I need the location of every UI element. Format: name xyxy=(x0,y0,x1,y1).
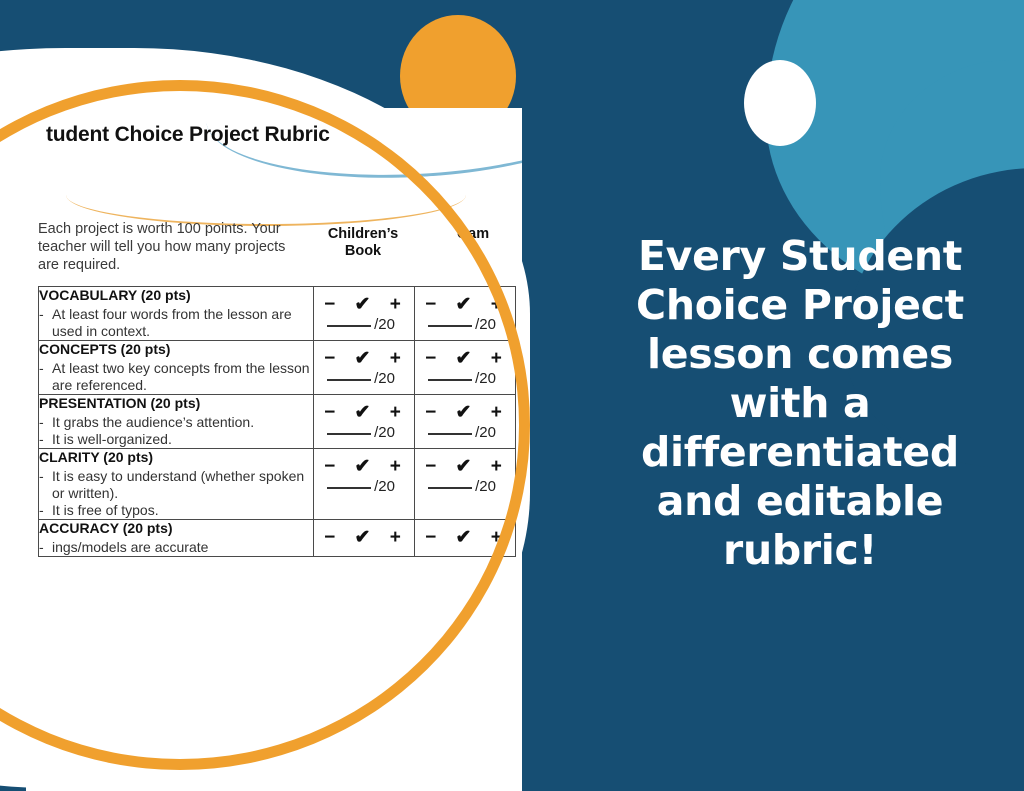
criterion-bullet: -ings/models are accurate xyxy=(39,539,313,556)
table-row: PRESENTATION (20 pts) -It grabs the audi… xyxy=(39,395,516,449)
score-cell-inner: − ✔ + /20 xyxy=(415,287,515,337)
score-cell-inner: − ✔ + /20 xyxy=(314,449,414,499)
criterion-bullet-text: It is free of typos. xyxy=(52,502,159,518)
score-underline[interactable] xyxy=(428,433,472,435)
rubric-document: tudent Choice Project Rubric Each projec… xyxy=(26,108,522,791)
criterion-bullets: -It is easy to understand (whether spoke… xyxy=(39,468,313,519)
bullet-dash-icon: - xyxy=(39,360,44,377)
score-blank[interactable]: /20 xyxy=(314,370,414,391)
mark-symbols[interactable]: − ✔ + xyxy=(314,341,414,370)
criterion-bullets: -ings/models are accurate xyxy=(39,539,313,556)
score-blank[interactable]: /20 xyxy=(314,316,414,337)
criterion-bullet-text: ings/models are accurate xyxy=(52,539,208,555)
score-blank[interactable]: /20 xyxy=(314,478,414,499)
criterion-bullets: -It grabs the audience’s attention. -It … xyxy=(39,414,313,448)
document-intro-text: Each project is worth 100 points. Your t… xyxy=(38,220,294,274)
score-cell-inner: − ✔ + /20 xyxy=(314,341,414,391)
score-cell-inner: − ✔ + /20 xyxy=(415,341,515,391)
score-cell-childrens-book[interactable]: − ✔ + /20 xyxy=(314,395,415,449)
mark-symbols[interactable]: − ✔ + xyxy=(314,520,414,549)
score-cell-inner: − ✔ + /20 xyxy=(415,449,515,499)
criterion-bullets: -At least two key concepts from the less… xyxy=(39,360,313,394)
score-cell-game[interactable]: − ✔ + /20 xyxy=(415,341,516,395)
table-row: ACCURACY (20 pts) -ings/models are accur… xyxy=(39,520,516,557)
score-blank[interactable]: /20 xyxy=(415,370,515,391)
bullet-dash-icon: - xyxy=(39,502,44,519)
score-underline[interactable] xyxy=(428,325,472,327)
criterion-cell: CLARITY (20 pts) -It is easy to understa… xyxy=(39,449,314,520)
column-header-childrens-book: Children’s Book xyxy=(314,226,412,260)
criterion-title: PRESENTATION (20 pts) xyxy=(39,395,313,412)
headline-line: rubric! xyxy=(582,526,1018,575)
score-cell-game[interactable]: − ✔ + /20 xyxy=(415,395,516,449)
score-cell-childrens-book[interactable]: − ✔ + /20 xyxy=(314,449,415,520)
criterion-bullet-text: It is well-organized. xyxy=(52,431,172,447)
score-suffix: /20 xyxy=(475,370,496,387)
score-cell-inner: − ✔ + /20 xyxy=(415,395,515,445)
criterion-title: VOCABULARY (20 pts) xyxy=(39,287,313,304)
score-cell-childrens-book[interactable]: − ✔ + /20 xyxy=(314,287,415,341)
score-suffix: /20 xyxy=(374,424,395,441)
headline-line: differentiated xyxy=(582,428,1018,477)
score-underline[interactable] xyxy=(327,487,371,489)
score-cell-inner: − ✔ + /20 xyxy=(314,287,414,337)
headline-text: Every Student Choice Project lesson come… xyxy=(582,232,1018,575)
bullet-dash-icon: - xyxy=(39,414,44,431)
document-header: tudent Choice Project Rubric xyxy=(26,108,522,198)
criterion-bullet-text: It grabs the audience’s attention. xyxy=(52,414,254,430)
column-header-game: Gam xyxy=(424,226,522,243)
mark-symbols[interactable]: − ✔ + xyxy=(415,520,515,549)
headline-line: and editable xyxy=(582,477,1018,526)
table-row: CLARITY (20 pts) -It is easy to understa… xyxy=(39,449,516,520)
mark-symbols[interactable]: − ✔ + xyxy=(415,449,515,478)
orange-swoosh-decoration xyxy=(66,164,466,226)
criterion-bullet: -It is easy to understand (whether spoke… xyxy=(39,468,313,502)
score-suffix: /20 xyxy=(475,478,496,495)
table-row: CONCEPTS (20 pts) -At least two key conc… xyxy=(39,341,516,395)
headline-line: Every Student xyxy=(582,232,1018,281)
criterion-bullet-text: At least two key concepts from the lesso… xyxy=(52,360,310,393)
criterion-cell: ACCURACY (20 pts) -ings/models are accur… xyxy=(39,520,314,557)
score-cell-inner: − ✔ + xyxy=(314,520,414,549)
mark-symbols[interactable]: − ✔ + xyxy=(314,449,414,478)
mark-symbols[interactable]: − ✔ + xyxy=(415,341,515,370)
criterion-title: CLARITY (20 pts) xyxy=(39,449,313,466)
score-underline[interactable] xyxy=(428,487,472,489)
headline-line: with a xyxy=(582,379,1018,428)
criterion-bullet: -It is free of typos. xyxy=(39,502,313,519)
headline-line: Choice Project xyxy=(582,281,1018,330)
bullet-dash-icon: - xyxy=(39,468,44,485)
mark-symbols[interactable]: − ✔ + xyxy=(314,395,414,424)
criterion-bullet: -It grabs the audience’s attention. xyxy=(39,414,313,431)
criterion-cell: VOCABULARY (20 pts) -At least four words… xyxy=(39,287,314,341)
criterion-bullet-text: It is easy to understand (whether spoken… xyxy=(52,468,304,501)
score-underline[interactable] xyxy=(327,433,371,435)
criterion-bullet: -At least four words from the lesson are… xyxy=(39,306,313,340)
criterion-bullet-text: At least four words from the lesson are … xyxy=(52,306,292,339)
score-suffix: /20 xyxy=(374,478,395,495)
score-suffix: /20 xyxy=(374,316,395,333)
score-blank[interactable]: /20 xyxy=(415,316,515,337)
score-cell-game[interactable]: − ✔ + /20 xyxy=(415,287,516,341)
criterion-bullet: -At least two key concepts from the less… xyxy=(39,360,313,394)
headline-line: lesson comes xyxy=(582,330,1018,379)
score-blank[interactable]: /20 xyxy=(415,424,515,445)
mark-symbols[interactable]: − ✔ + xyxy=(415,395,515,424)
score-suffix: /20 xyxy=(475,316,496,333)
mark-symbols[interactable]: − ✔ + xyxy=(314,287,414,316)
score-suffix: /20 xyxy=(475,424,496,441)
bullet-dash-icon: - xyxy=(39,539,44,556)
score-cell-childrens-book[interactable]: − ✔ + /20 xyxy=(314,341,415,395)
score-underline[interactable] xyxy=(327,325,371,327)
slide-canvas: tudent Choice Project Rubric Each projec… xyxy=(0,0,1024,791)
criterion-bullets: -At least four words from the lesson are… xyxy=(39,306,313,340)
score-underline[interactable] xyxy=(327,379,371,381)
score-cell-game[interactable]: − ✔ + /20 xyxy=(415,449,516,520)
score-cell-game[interactable]: − ✔ + xyxy=(415,520,516,557)
white-dot-shape xyxy=(744,60,816,146)
mark-symbols[interactable]: − ✔ + xyxy=(415,287,515,316)
bullet-dash-icon: - xyxy=(39,306,44,323)
rubric-table-body: VOCABULARY (20 pts) -At least four words… xyxy=(39,287,516,557)
bullet-dash-icon: - xyxy=(39,431,44,448)
document-title: tudent Choice Project Rubric xyxy=(46,122,376,147)
score-blank[interactable]: /20 xyxy=(415,478,515,499)
score-blank[interactable]: /20 xyxy=(314,424,414,445)
criterion-bullet: -It is well-organized. xyxy=(39,431,313,448)
score-cell-inner: − ✔ + /20 xyxy=(314,395,414,445)
score-suffix: /20 xyxy=(374,370,395,387)
rubric-table: VOCABULARY (20 pts) -At least four words… xyxy=(38,286,516,557)
score-underline[interactable] xyxy=(428,379,472,381)
table-row: VOCABULARY (20 pts) -At least four words… xyxy=(39,287,516,341)
score-cell-inner: − ✔ + xyxy=(415,520,515,549)
criterion-cell: CONCEPTS (20 pts) -At least two key conc… xyxy=(39,341,314,395)
criterion-title: ACCURACY (20 pts) xyxy=(39,520,313,537)
score-cell-childrens-book[interactable]: − ✔ + xyxy=(314,520,415,557)
criterion-cell: PRESENTATION (20 pts) -It grabs the audi… xyxy=(39,395,314,449)
criterion-title: CONCEPTS (20 pts) xyxy=(39,341,313,358)
